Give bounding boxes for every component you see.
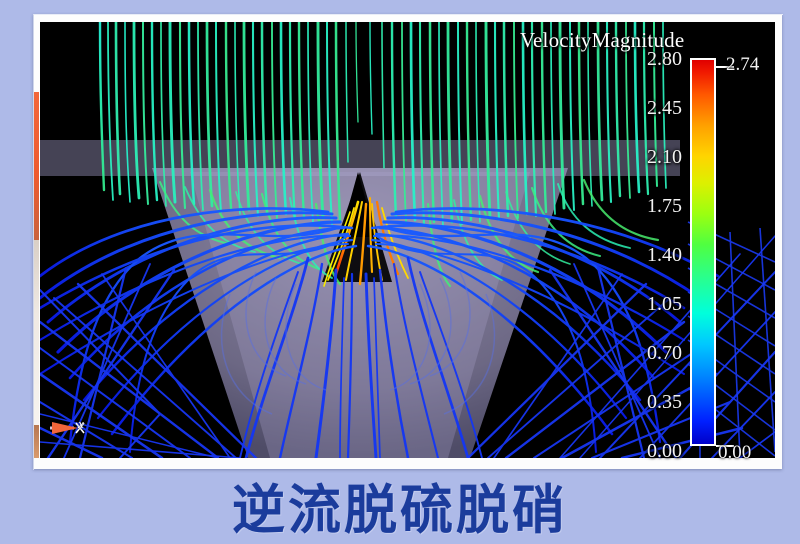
- scalarbar-tick-7: 0.35: [647, 391, 682, 414]
- scalarbar-tick-8: 0.00: [647, 440, 682, 463]
- axis-x-label: x: [78, 416, 84, 432]
- scalarbar-min-label: 0.00: [718, 442, 751, 464]
- scalarbar-gradient: [690, 58, 716, 446]
- scalarbar-tick-3: 1.75: [647, 195, 682, 218]
- screenshot-root: VelocityMagnitude 2.80 2.45 2.10 1.75 1.…: [0, 0, 800, 542]
- scalarbar-tick-1: 2.45: [647, 97, 682, 120]
- scalarbar-tick-0: 2.80: [647, 48, 682, 71]
- left-edge-strip-light: [34, 240, 39, 425]
- scalarbar-tick-2: 2.10: [647, 146, 682, 169]
- left-edge-strip-brown: [34, 425, 39, 458]
- scalarbar-tick-6: 0.70: [647, 342, 682, 365]
- axis-orientation-widget[interactable]: x: [48, 408, 108, 448]
- scalarbar-tick-4: 1.40: [647, 244, 682, 267]
- scalarbar-tick-5: 1.05: [647, 293, 682, 316]
- scalarbar[interactable]: [690, 58, 716, 446]
- left-edge-strip-orange: [34, 92, 39, 242]
- figure-caption: 逆流脱硫脱硝: [0, 470, 800, 542]
- scalarbar-max-label: 2.74: [726, 54, 759, 76]
- scalarbar-tick-labels: 2.80 2.45 2.10 1.75 1.40 1.05 0.70 0.35 …: [600, 48, 682, 456]
